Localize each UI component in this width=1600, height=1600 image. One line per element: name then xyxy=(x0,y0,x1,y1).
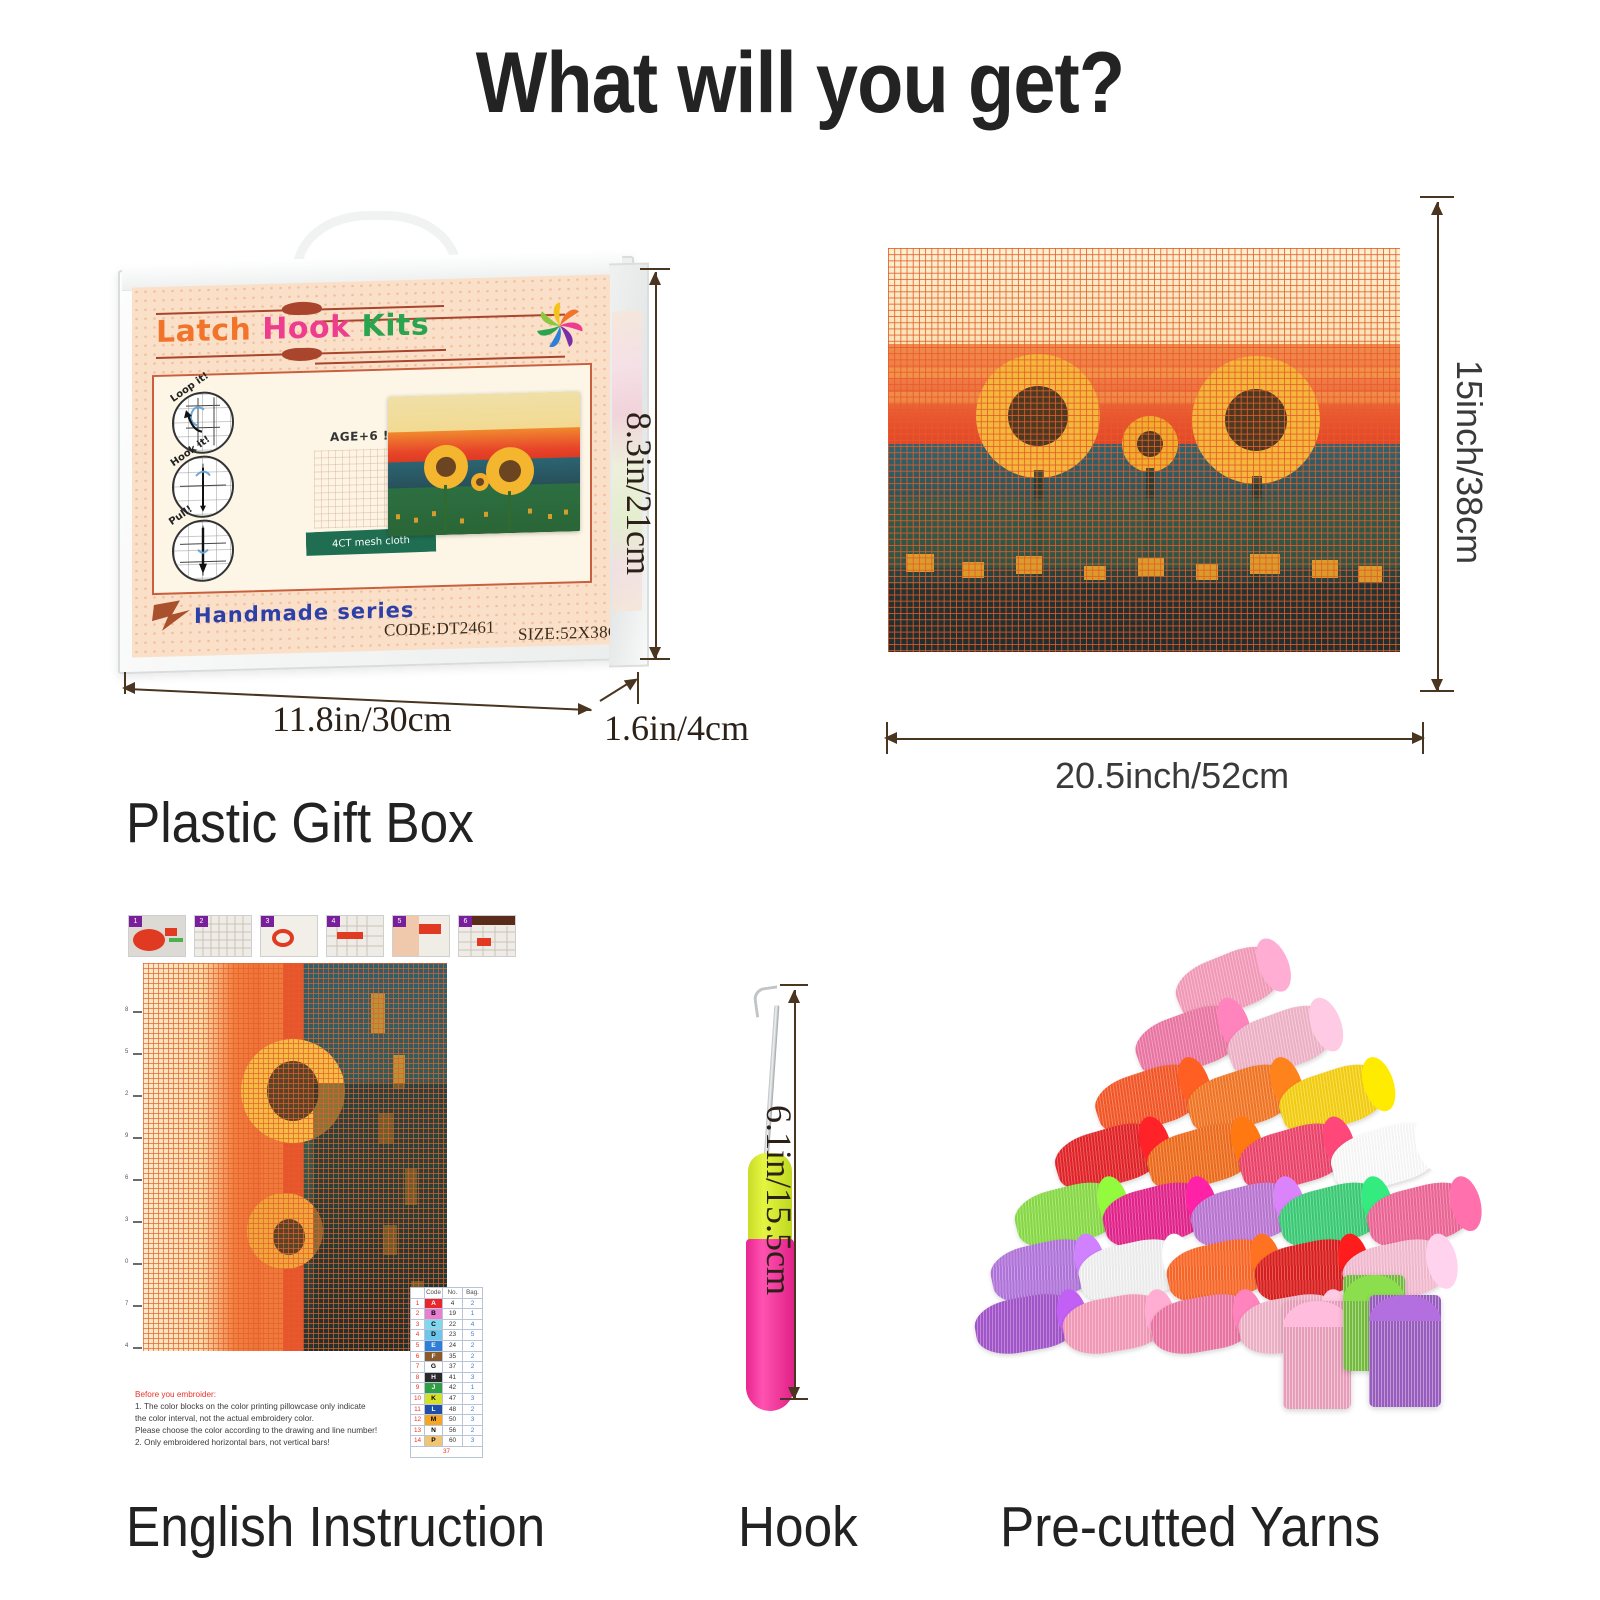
thumbnail-badge-3: 3 xyxy=(261,916,274,927)
caption-english-instruction: English Instruction xyxy=(126,1494,545,1560)
row-index: 7 xyxy=(411,1362,425,1373)
row-code-swatch: J xyxy=(425,1383,443,1394)
row-bag: 2 xyxy=(463,1425,483,1436)
instruction-step-thumbnails: 1 2 3 4 5 6 xyxy=(128,915,516,959)
color-table-row: 2B191 xyxy=(411,1309,483,1320)
row-number: 35 xyxy=(443,1351,463,1362)
instruction-notes: Before you embroider: 1. The color block… xyxy=(135,1389,403,1448)
product-size: SIZE:52X38CM xyxy=(518,622,610,645)
notes-line-2: the color interval, not the actual embro… xyxy=(135,1413,403,1425)
hook-length-label: 6.1in/15.5cm xyxy=(758,1105,800,1295)
canvas-height-label: 15inch/38cm xyxy=(1448,360,1490,564)
row-index: 1 xyxy=(411,1298,425,1309)
row-index: 14 xyxy=(411,1436,425,1447)
thumbnail-step-4: 4 xyxy=(326,915,384,957)
row-bag: 1 xyxy=(463,1383,483,1394)
row-bag: 2 xyxy=(463,1404,483,1415)
thumbnail-badge-6: 6 xyxy=(459,916,472,927)
row-code-swatch: G xyxy=(425,1362,443,1373)
color-table-header-row: Code No. Bag. xyxy=(411,1288,483,1299)
row-bag: 2 xyxy=(463,1351,483,1362)
row-bag: 1 xyxy=(463,1309,483,1320)
row-number: 37 xyxy=(443,1362,463,1373)
mesh-canvas-art xyxy=(888,248,1400,652)
ruler-mark-5: 3 xyxy=(125,1217,128,1223)
row-bag: 3 xyxy=(463,1415,483,1426)
row-bag: 2 xyxy=(463,1340,483,1351)
caption-hook: Hook xyxy=(738,1494,858,1560)
box-printed-card: Latch Hook Kits Loop it! xyxy=(132,274,610,657)
logo-word-hook: Hook xyxy=(262,310,350,347)
row-number: 47 xyxy=(443,1393,463,1404)
row-code-swatch: M xyxy=(425,1415,443,1426)
box-depth-label: 1.6in/4cm xyxy=(604,707,749,749)
yarn-color-code-table: Code No. Bag. 1A422B1913C2244D2355E2426F… xyxy=(410,1287,483,1458)
row-number: 48 xyxy=(443,1404,463,1415)
row-code-swatch: E xyxy=(425,1340,443,1351)
gift-box-figure: Latch Hook Kits Loop it! xyxy=(118,205,648,675)
color-table-row: 11L482 xyxy=(411,1404,483,1415)
product-code: CODE:DT2461 xyxy=(384,618,495,641)
page-title: What will you get? xyxy=(96,34,1504,133)
ruler-mark-3: 9 xyxy=(125,1133,128,1139)
ruler-mark-0: 8 xyxy=(125,1007,128,1013)
row-code-swatch: L xyxy=(425,1404,443,1415)
box-instruction-area: Loop it! Hook it! Pull! xyxy=(152,363,592,595)
color-table-row: 3C224 xyxy=(411,1319,483,1330)
col-index xyxy=(411,1288,425,1299)
row-number: 60 xyxy=(443,1436,463,1447)
row-index: 10 xyxy=(411,1393,425,1404)
color-table-row: 5E242 xyxy=(411,1340,483,1351)
yarn-tube xyxy=(1369,1295,1441,1407)
brand-logo-text: Latch Hook Kits xyxy=(156,307,429,350)
color-table-row: 14P603 xyxy=(411,1436,483,1447)
color-table-row: 13N562 xyxy=(411,1425,483,1436)
row-code-swatch: H xyxy=(425,1372,443,1383)
thumbnail-step-1: 1 xyxy=(128,915,186,957)
notes-header: Before you embroider: xyxy=(135,1389,403,1401)
ruler-mark-8: 4 xyxy=(125,1343,128,1349)
logo-rule-bottom2 xyxy=(315,356,565,365)
color-table-row: 10K473 xyxy=(411,1393,483,1404)
notes-line-3: Please choose the color according to the… xyxy=(135,1425,403,1437)
thumbnail-badge-2: 2 xyxy=(195,916,208,927)
color-table-row: 7G372 xyxy=(411,1362,483,1373)
row-code-swatch: N xyxy=(425,1425,443,1436)
row-index: 4 xyxy=(411,1330,425,1341)
row-index: 5 xyxy=(411,1340,425,1351)
handmade-ribbon-icon xyxy=(150,594,196,635)
row-index: 3 xyxy=(411,1319,425,1330)
row-number: 24 xyxy=(443,1340,463,1351)
thumbnail-badge-5: 5 xyxy=(393,916,406,927)
row-bag: 2 xyxy=(463,1362,483,1373)
row-code-swatch: B xyxy=(425,1309,443,1320)
row-index: 6 xyxy=(411,1351,425,1362)
col-bag: Bag. xyxy=(463,1288,483,1299)
instruction-color-chart xyxy=(143,963,447,1351)
finished-rug-photo xyxy=(388,391,580,536)
box-height-label: 8.3in/21cm xyxy=(618,412,660,575)
color-table-row: 1A42 xyxy=(411,1298,483,1309)
row-number: 23 xyxy=(443,1330,463,1341)
age-recommendation: AGE+6 ! xyxy=(330,429,389,445)
row-bag: 3 xyxy=(463,1436,483,1447)
ruler-mark-4: 6 xyxy=(125,1175,128,1181)
step-circle-pull xyxy=(172,519,234,583)
notes-line-4: 2. Only embroidered horizontal bars, not… xyxy=(135,1437,403,1449)
box-width-label: 11.8in/30cm xyxy=(272,698,452,740)
row-number: 41 xyxy=(443,1372,463,1383)
row-bag: 2 xyxy=(463,1298,483,1309)
row-code-swatch: A xyxy=(425,1298,443,1309)
color-table-row: 4D235 xyxy=(411,1330,483,1341)
row-number: 56 xyxy=(443,1425,463,1436)
row-number: 4 xyxy=(443,1298,463,1309)
row-code-swatch: C xyxy=(425,1319,443,1330)
row-code-swatch: K xyxy=(425,1393,443,1404)
thumbnail-step-2: 2 xyxy=(194,915,252,957)
mesh-canvas-figure xyxy=(888,248,1400,652)
notes-line-1: 1. The color blocks on the color printin… xyxy=(135,1401,403,1413)
row-number: 19 xyxy=(443,1309,463,1320)
row-bag: 5 xyxy=(463,1330,483,1341)
color-table-total: 37 xyxy=(411,1446,483,1457)
row-index: 9 xyxy=(411,1383,425,1394)
color-table-row: 9J421 xyxy=(411,1383,483,1394)
color-table-row: 12M503 xyxy=(411,1415,483,1426)
row-index: 11 xyxy=(411,1404,425,1415)
thumbnail-step-5: 5 xyxy=(392,915,450,957)
yarn-tube xyxy=(1283,1301,1351,1409)
ruler-mark-7: 7 xyxy=(125,1301,128,1307)
color-table-row: 8H413 xyxy=(411,1372,483,1383)
row-index: 12 xyxy=(411,1415,425,1426)
yarn-bundles-figure xyxy=(965,935,1465,1435)
ruler-mark-2: 2 xyxy=(125,1091,128,1097)
row-number: 50 xyxy=(443,1415,463,1426)
row-number: 22 xyxy=(443,1319,463,1330)
caption-plastic-gift-box: Plastic Gift Box xyxy=(126,790,474,856)
handmade-series-label: Handmade series xyxy=(194,598,414,628)
row-index: 13 xyxy=(411,1425,425,1436)
row-bag: 3 xyxy=(463,1393,483,1404)
thumbnail-step-3: 3 xyxy=(260,915,318,957)
row-number: 42 xyxy=(443,1383,463,1394)
box-logo-row: Latch Hook Kits xyxy=(150,295,590,363)
color-table-total-row: 37 xyxy=(411,1446,483,1457)
color-table-row: 6F352 xyxy=(411,1351,483,1362)
row-index: 2 xyxy=(411,1309,425,1320)
row-bag: 4 xyxy=(463,1319,483,1330)
thumbnail-step-6: 6 xyxy=(458,915,516,957)
ruler-mark-1: 5 xyxy=(125,1049,128,1055)
logo-word-kits: Kits xyxy=(362,307,430,344)
thumbnail-badge-1: 1 xyxy=(129,916,142,927)
logo-ornament-bottom xyxy=(282,347,322,361)
col-number: No. xyxy=(443,1288,463,1299)
caption-pre-cutted-yarns: Pre-cutted Yarns xyxy=(1000,1494,1380,1560)
row-code-swatch: F xyxy=(425,1351,443,1362)
row-code-swatch: D xyxy=(425,1330,443,1341)
canvas-width-label: 20.5inch/52cm xyxy=(1055,755,1289,797)
logo-word-latch: Latch xyxy=(156,312,251,350)
row-code-swatch: P xyxy=(425,1436,443,1447)
color-table-body: 1A422B1913C2244D2355E2426F3527G3728H4139… xyxy=(411,1298,483,1446)
pinwheel-logo-icon xyxy=(532,297,588,355)
col-code: Code xyxy=(425,1288,443,1299)
ruler-mark-6: 0 xyxy=(125,1259,128,1265)
thumbnail-badge-4: 4 xyxy=(327,916,340,927)
row-bag: 3 xyxy=(463,1372,483,1383)
instruction-sheet-figure: 1 2 3 4 5 6 xyxy=(125,915,517,1475)
row-index: 8 xyxy=(411,1372,425,1383)
